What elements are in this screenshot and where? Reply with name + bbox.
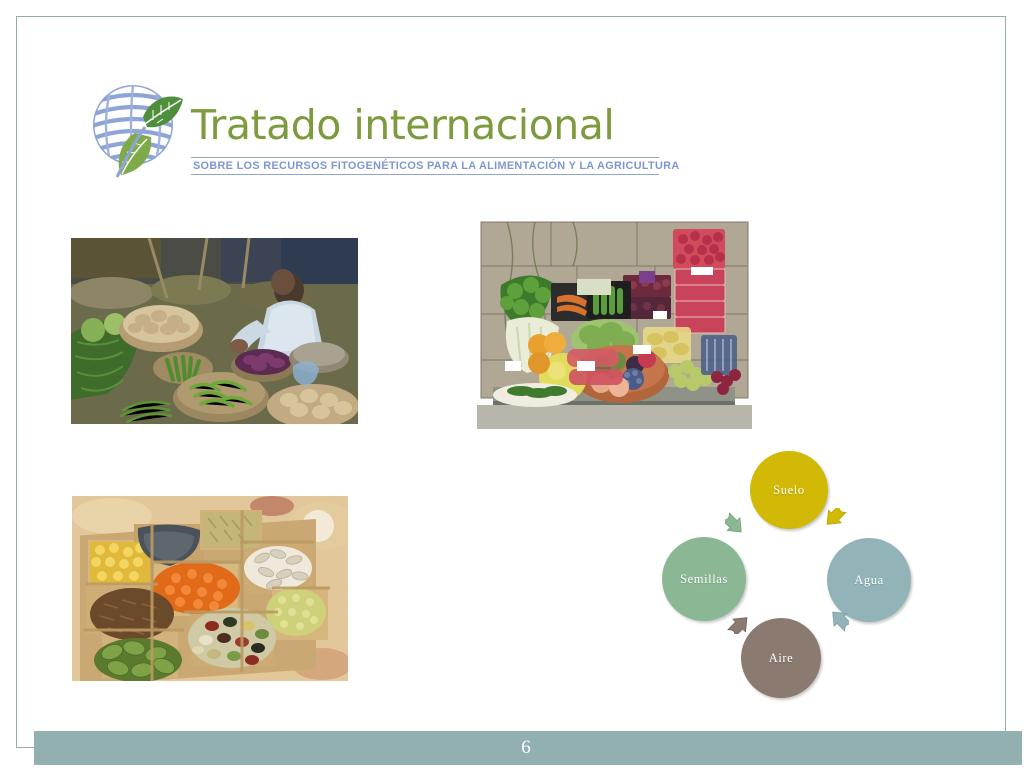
logo-block: Tratado internacional SOBRE LOS RECURSOS… [83, 73, 663, 185]
cycle-node-agua-label: Agua [854, 573, 883, 588]
slide-frame: Tratado internacional SOBRE LOS RECURSOS… [16, 16, 1006, 748]
cycle-arrow-aire-to-semillas-icon [725, 600, 759, 634]
cycle-node-aire-label: Aire [769, 651, 794, 666]
page-number: 6 [521, 737, 531, 759]
footer-bar: 6 [34, 731, 1022, 765]
cycle-arrow-agua-to-aire-icon [815, 600, 849, 634]
cycle-node-suelo-label: Suelo [773, 483, 804, 498]
market-vegetables-photo [71, 238, 358, 424]
logo-title: Tratado internacional [191, 103, 614, 147]
packaged-produce-photo [477, 219, 752, 429]
slide: Tratado internacional SOBRE LOS RECURSOS… [0, 0, 1024, 768]
cycle-diagram: Suelo Agua Aire Semillas [647, 442, 927, 712]
cycle-arrow-semillas-to-suelo-icon [725, 510, 759, 544]
cycle-node-semillas-label: Semillas [680, 572, 728, 587]
logo-subtitle-wrap: SOBRE LOS RECURSOS FITOGENÉTICOS PARA LA… [191, 157, 659, 175]
globe-leaf-logo-icon [83, 73, 193, 183]
seeds-box-photo [72, 496, 348, 681]
logo-subtitle: SOBRE LOS RECURSOS FITOGENÉTICOS PARA LA… [191, 158, 645, 174]
logo-rule-bottom [191, 174, 659, 175]
cycle-arrow-suelo-to-agua-icon [815, 508, 849, 542]
